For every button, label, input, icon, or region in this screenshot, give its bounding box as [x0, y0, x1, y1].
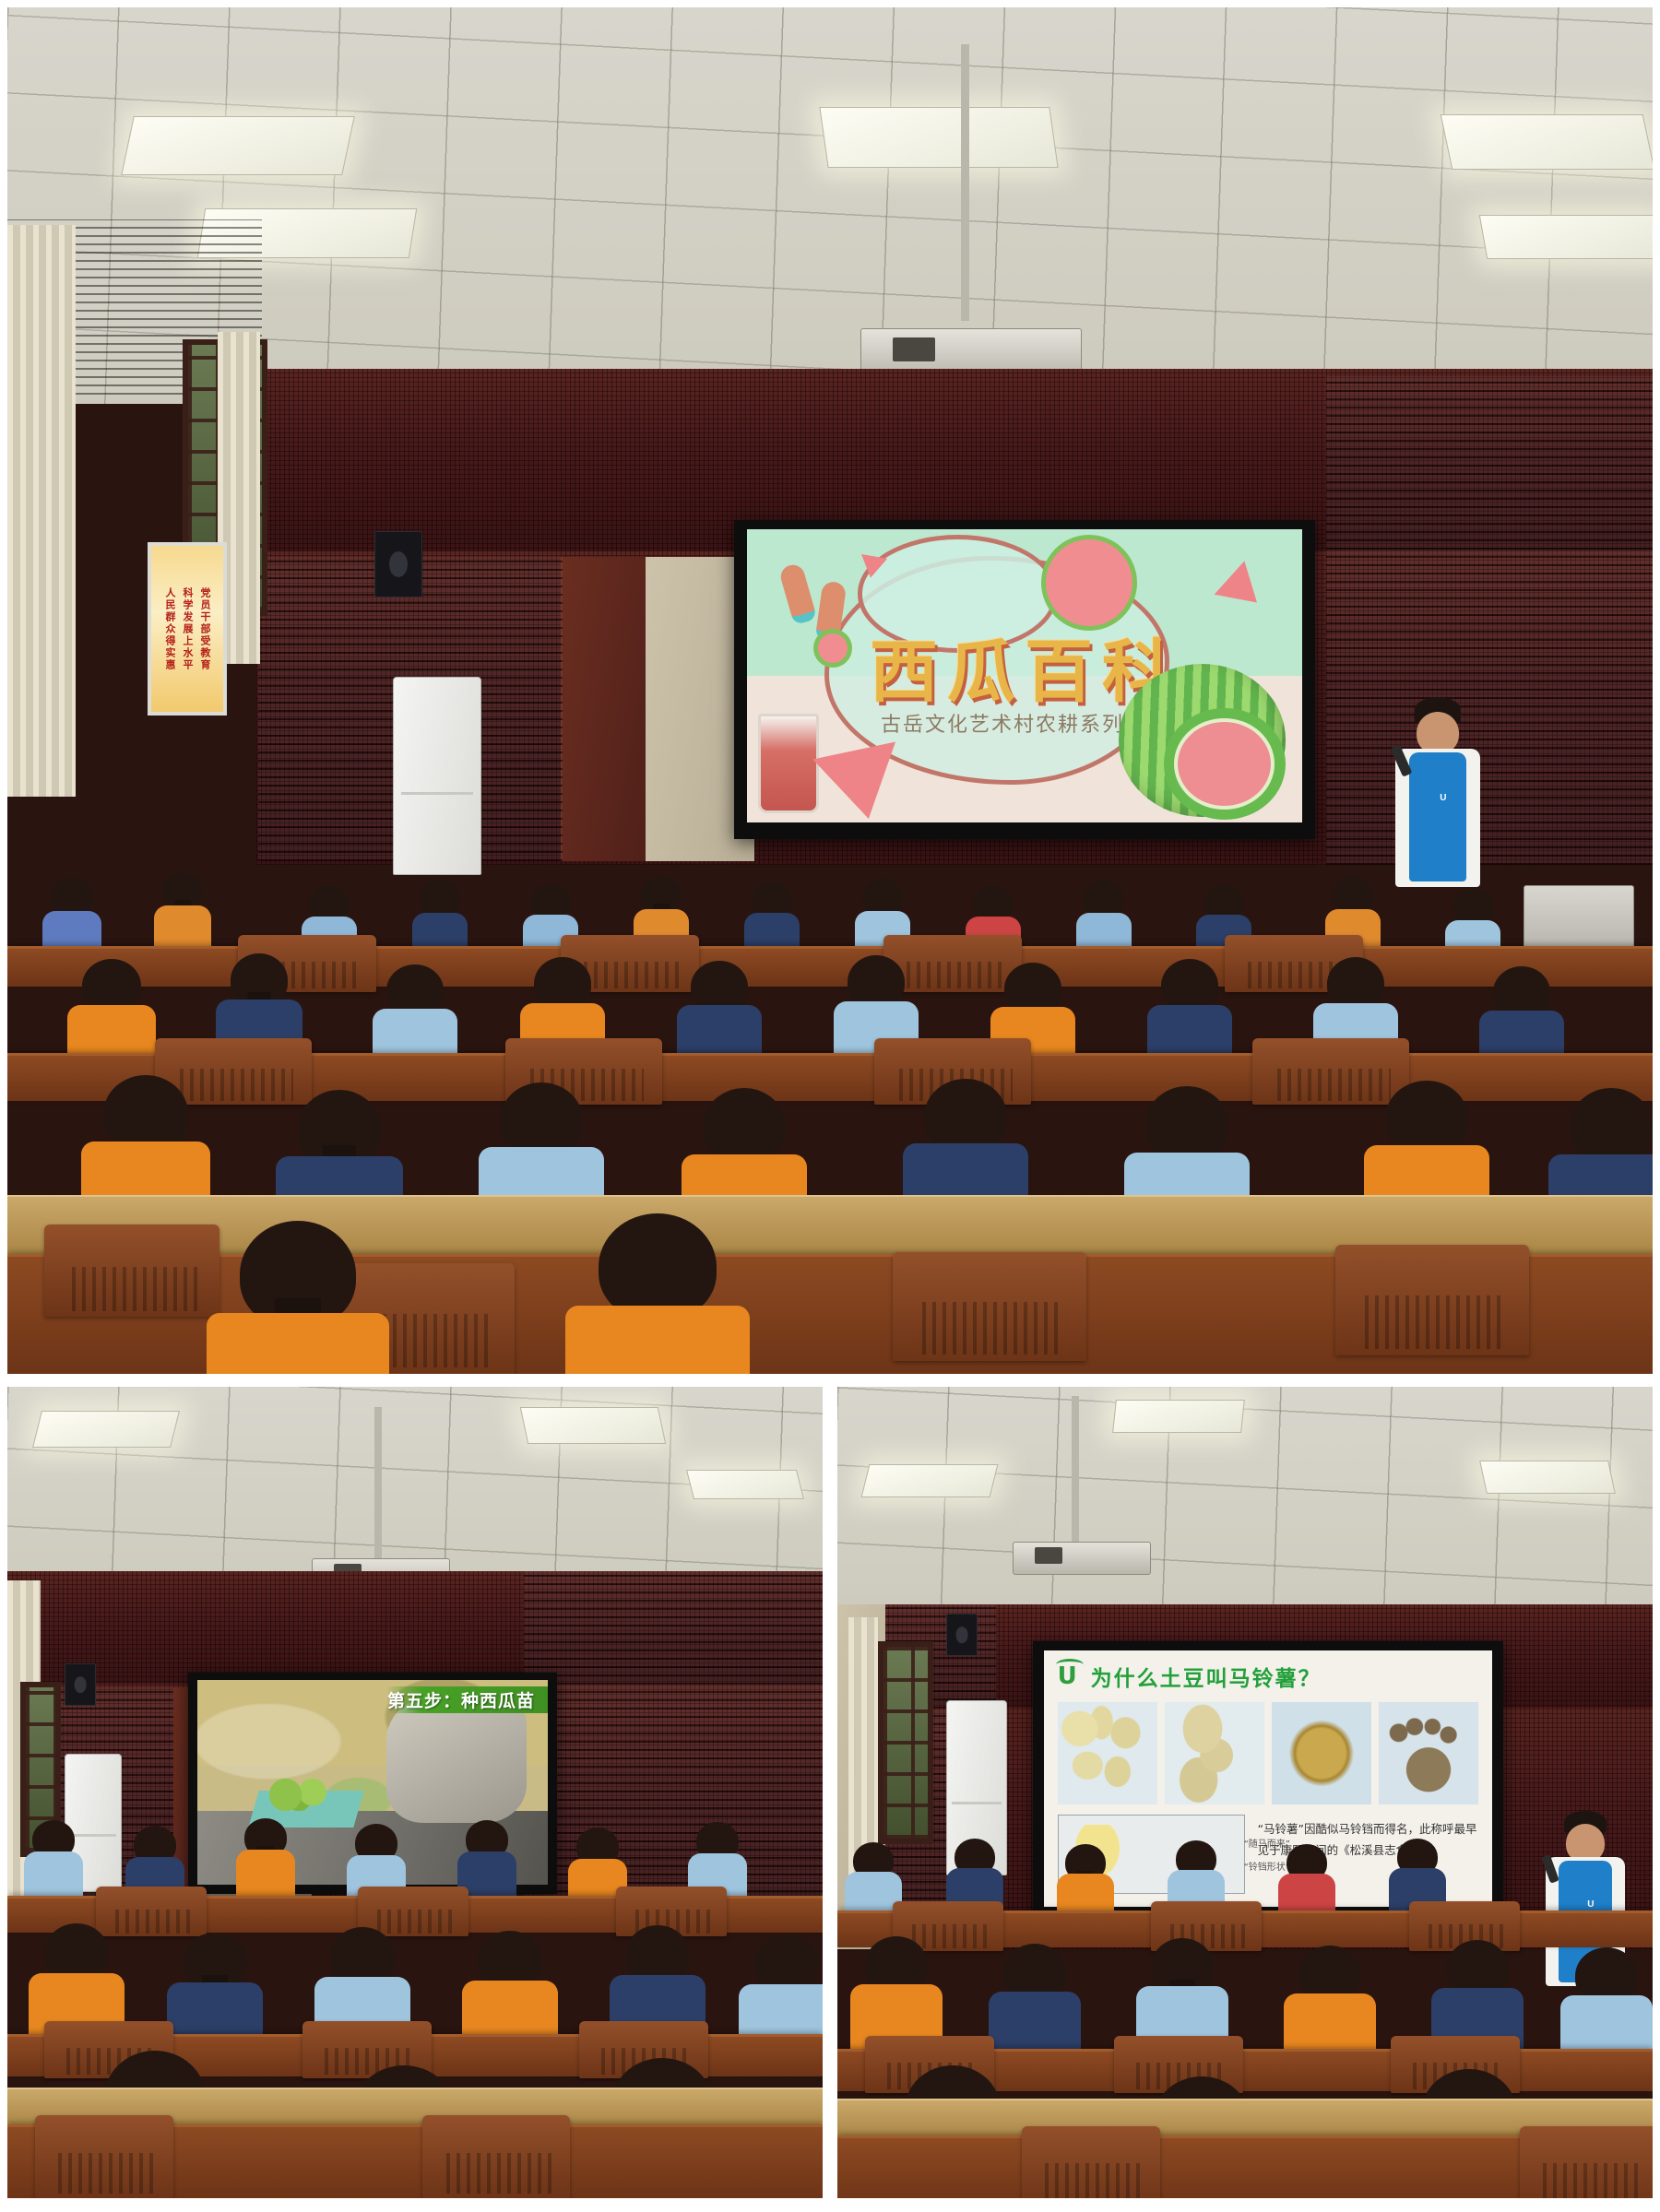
ceiling-light — [121, 116, 355, 175]
projector-mount-rod — [1072, 1396, 1079, 1547]
slide-photo-strip — [1058, 1702, 1479, 1804]
panel-video-playback: 第五步：种西瓜苗 — [7, 1387, 823, 2198]
student — [994, 1944, 1075, 2060]
student — [219, 1221, 376, 1374]
brand-logo-icon — [1058, 1662, 1082, 1690]
panel-main-classroom: 党员干部受教育 科学发展上水平 人民群众得实惠 — [7, 7, 1653, 1374]
watermelon-juice-glass — [758, 714, 819, 813]
ceiling-light — [861, 1464, 999, 1497]
flip-flop-icon — [778, 562, 818, 626]
panel-potato-lesson: 为什么土豆叫马铃薯？ “随马而来” “铃铛形状” — [837, 1387, 1653, 2198]
slide-title: 为什么土豆叫马铃薯？ — [1091, 1661, 1322, 1692]
student — [1566, 1947, 1647, 2064]
chair-back — [44, 1224, 219, 1317]
audience-area — [7, 858, 1653, 1374]
video-caption-banner: 第五步：种西瓜苗 — [386, 1686, 548, 1713]
ceiling-light — [32, 1411, 180, 1448]
watermelon-slice-icon — [858, 554, 887, 580]
chair-back — [422, 2115, 570, 2198]
ceiling-light — [686, 1470, 804, 1499]
photo-bronze-bell — [1272, 1702, 1371, 1804]
watermelon-slice-icon — [813, 742, 911, 822]
video-farmer-hands — [386, 1697, 527, 1824]
ceiling-light — [1479, 1461, 1616, 1494]
student — [468, 1931, 551, 2051]
chair-back — [35, 2115, 173, 2198]
wall-speaker — [65, 1663, 96, 1706]
projection-screen-surface: 西瓜百科 古岳文化艺术村农耕系列课程 — [747, 529, 1302, 822]
watermelon-slice-icon — [1215, 561, 1273, 619]
window-right-panel — [878, 1641, 933, 1844]
student — [26, 1820, 81, 1903]
ceiling-light — [1112, 1400, 1245, 1433]
curtain-left — [7, 225, 76, 797]
ceiling — [837, 1387, 1653, 1621]
student — [238, 1818, 293, 1903]
photo-potatoes — [1058, 1702, 1157, 1804]
chair-back — [1335, 1245, 1529, 1355]
slide-watermelon-encyclopedia: 西瓜百科 古岳文化艺术村农耕系列课程 — [747, 529, 1302, 822]
wall-slats-right — [1326, 376, 1653, 865]
photo-bell-array — [1379, 1702, 1478, 1804]
ceiling-light — [520, 1407, 667, 1444]
window-grille — [883, 1647, 928, 1839]
audience-area — [7, 1811, 823, 2198]
ceiling-light — [1441, 114, 1653, 170]
wall-poster: 党员干部受教育 科学发展上水平 人民群众得实惠 — [148, 542, 227, 716]
student — [72, 959, 151, 1068]
wall-speaker — [946, 1614, 978, 1656]
student — [1289, 1946, 1370, 2062]
student — [579, 1213, 736, 1374]
chair-back — [1520, 2126, 1653, 2198]
ceiling-tile-grid — [837, 1387, 1653, 1621]
chair-back — [1022, 2126, 1160, 2198]
video-caption-text: 第五步：种西瓜苗 — [387, 1687, 535, 1712]
poster-line-1: 党员干部受教育 — [197, 587, 212, 671]
air-conditioner — [393, 677, 481, 875]
projection-screen-frame: 西瓜百科 古岳文化艺术村农耕系列课程 — [734, 520, 1315, 839]
ceiling-projector — [1013, 1542, 1151, 1575]
poster-line-2: 科学发展上水平 — [180, 587, 195, 671]
audience-area — [837, 1829, 1653, 2198]
wall-speaker — [374, 531, 422, 597]
photo-collage: 党员干部受教育 科学发展上水平 人民群众得实惠 — [0, 0, 1660, 2212]
cut-watermelon-icon — [1164, 708, 1286, 820]
ceiling-light — [1479, 215, 1653, 259]
ceiling-light — [819, 107, 1058, 168]
video-seedlings — [260, 1779, 344, 1812]
projector-mount-rod — [374, 1407, 382, 1566]
photo-potato-tubers — [1165, 1702, 1264, 1804]
slide-header: 为什么土豆叫马铃薯？ — [1058, 1661, 1322, 1692]
chair-back — [893, 1252, 1086, 1361]
projector-lens — [1035, 1547, 1062, 1564]
vest-logo: U — [1440, 793, 1446, 803]
student — [1151, 959, 1228, 1068]
poster-line-3: 人民群众得实惠 — [162, 587, 177, 671]
projector-lens — [893, 337, 935, 361]
wall-column-wood — [561, 557, 646, 861]
projector-mount-rod — [961, 44, 969, 321]
bottom-panel-row: 第五步：种西瓜苗 — [7, 1387, 1653, 2198]
